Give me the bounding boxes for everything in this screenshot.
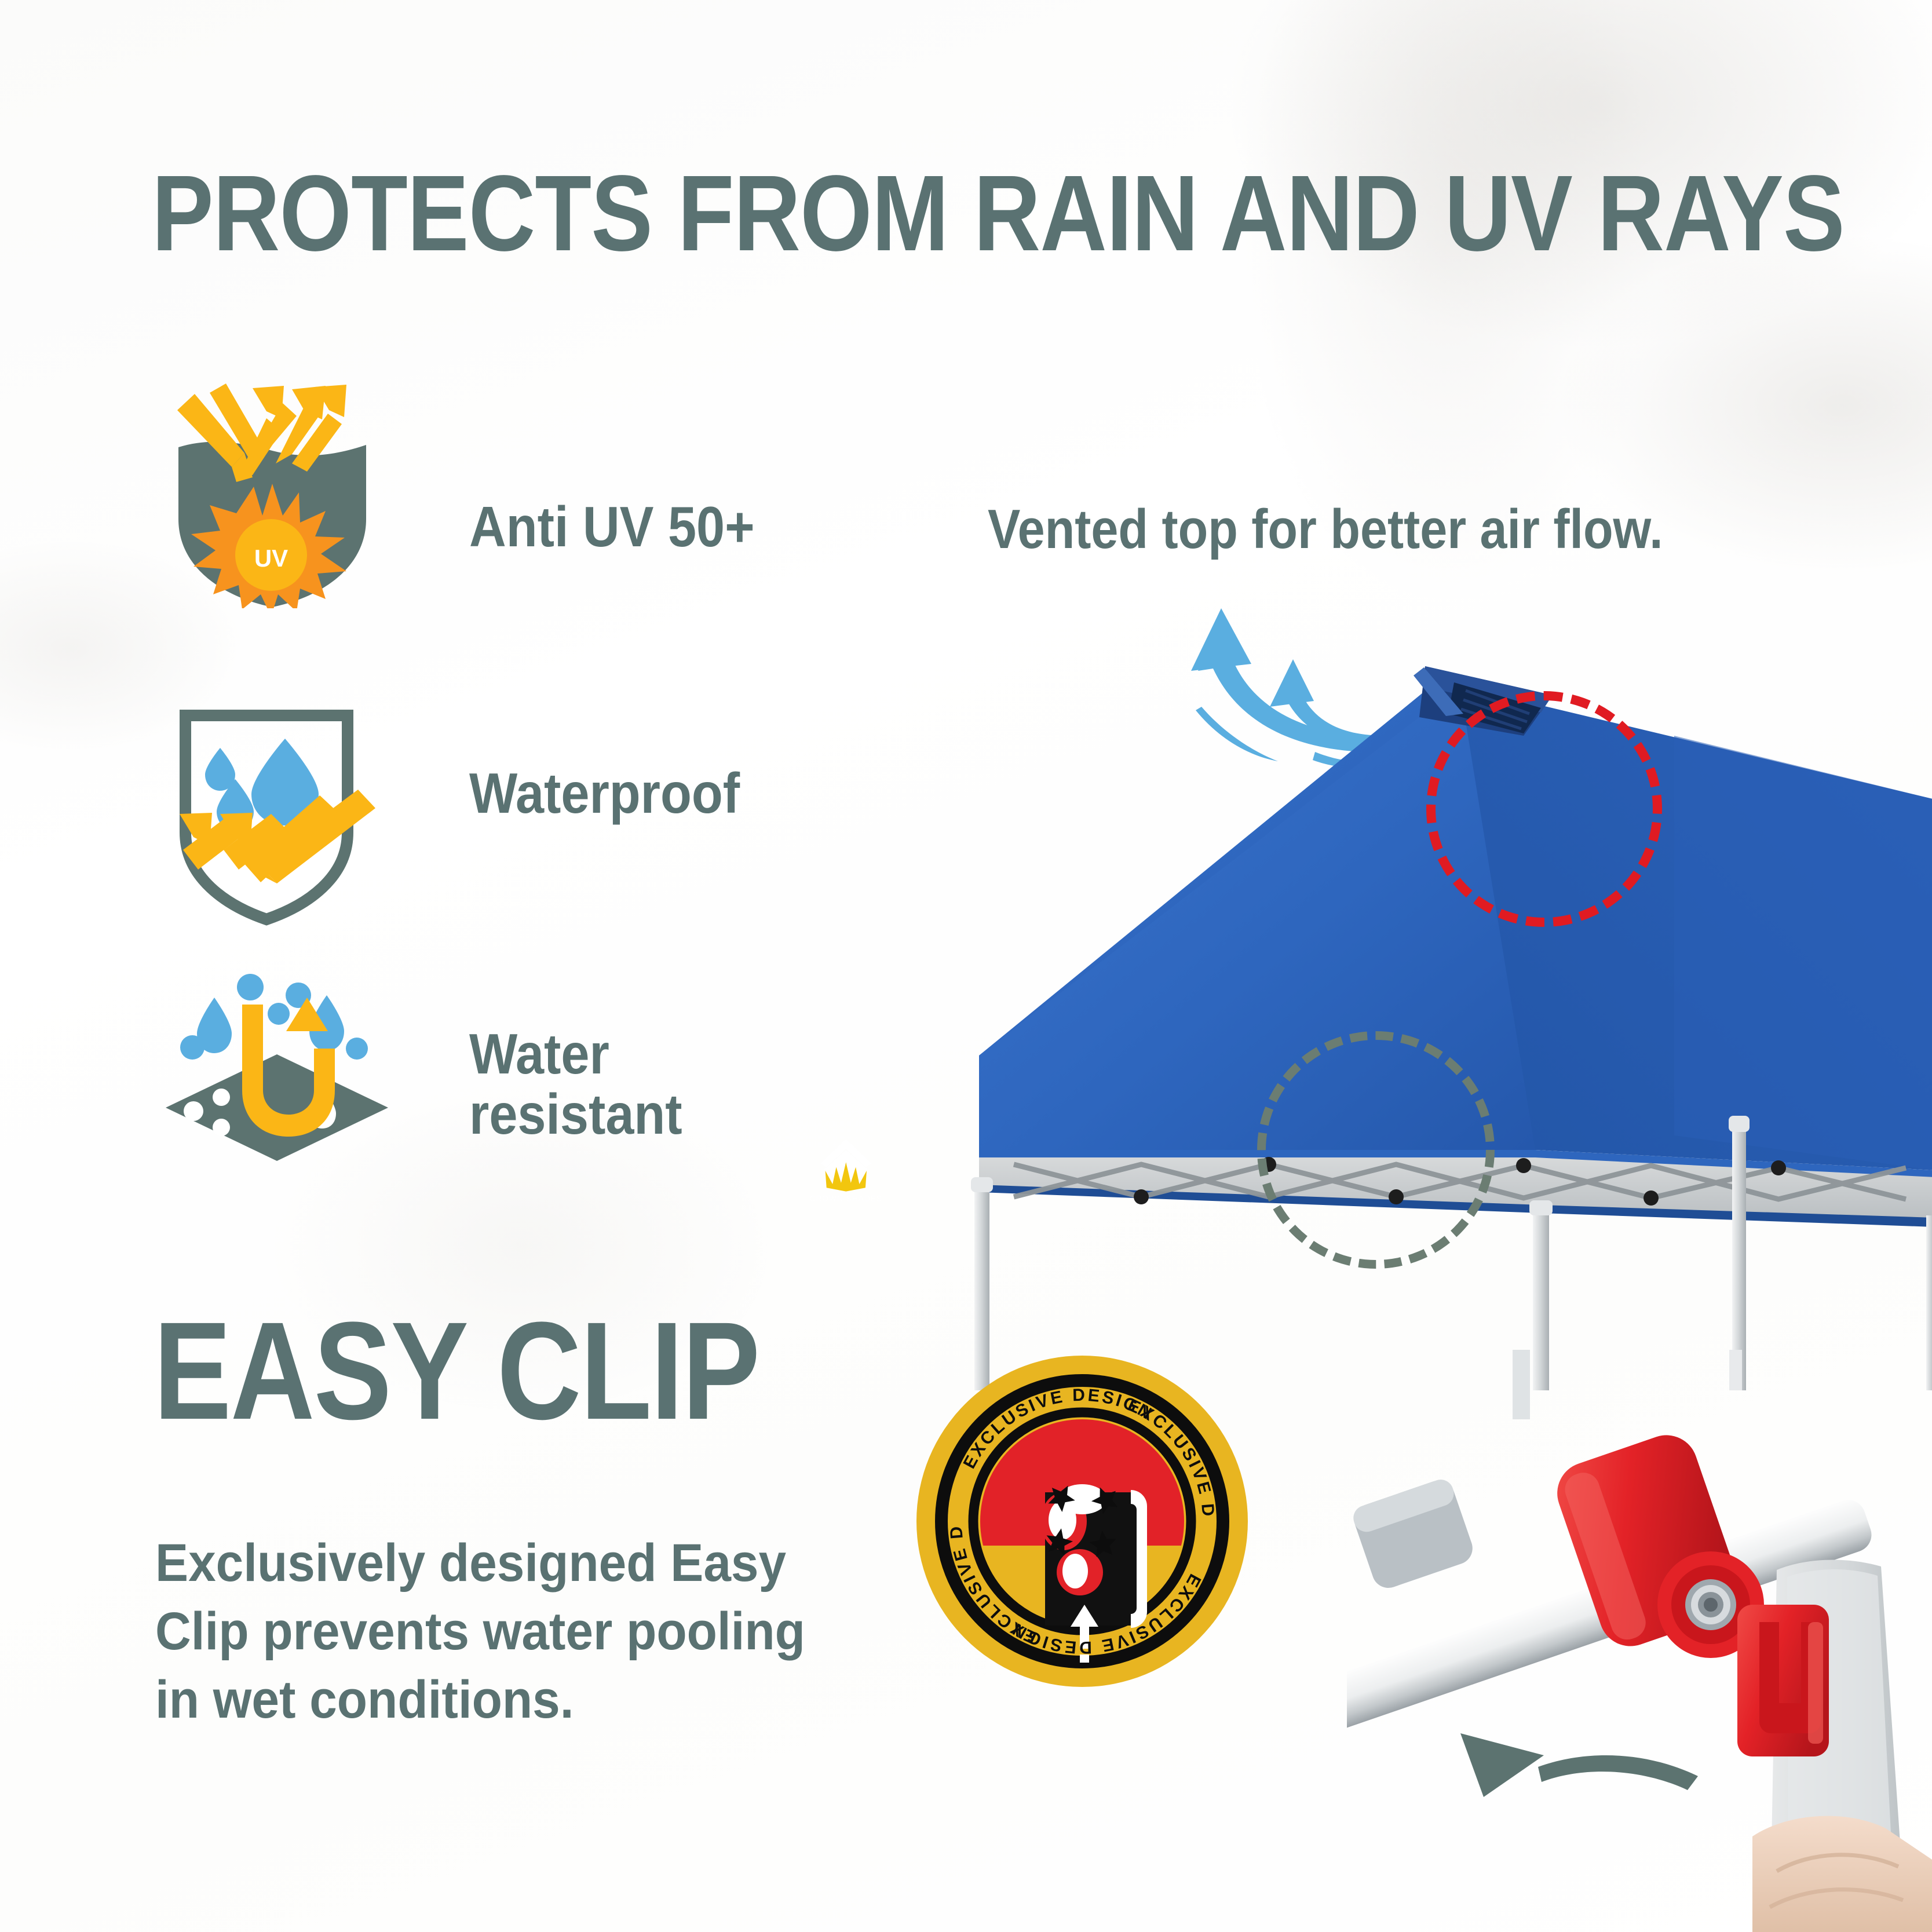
exclusive-design-badge: EXCLUSIVE DESIGN EXCLUSIVE DESIGN EXCLUS… bbox=[914, 1353, 1250, 1689]
infographic-canvas: PROTECTS FROM RAIN AND UV RAYS UV bbox=[0, 0, 1932, 1932]
easy-clip-hardware-image bbox=[1347, 1350, 1932, 1932]
uv-shield-icon: UV bbox=[168, 382, 377, 608]
svg-text:UV: UV bbox=[254, 545, 288, 572]
feature-label-water-resistant: Water resistant bbox=[469, 1024, 682, 1145]
feature-label-anti-uv: Anti UV 50+ bbox=[469, 497, 755, 557]
easy-clip-title: EASY CLIP bbox=[154, 1301, 759, 1440]
canopy-product-image: CROWN SHADES bbox=[770, 626, 1932, 1390]
svg-text:CROWN SHADES: CROWN SHADES bbox=[810, 1194, 883, 1203]
water-resistant-surface-icon bbox=[161, 962, 393, 1164]
waterproof-shield-icon bbox=[174, 698, 377, 927]
vented-top-label: Vented top for better air flow. bbox=[988, 502, 1663, 557]
easy-clip-description: Exclusively designed Easy Clip prevents … bbox=[155, 1529, 818, 1734]
feature-label-waterproof: Waterproof bbox=[469, 764, 740, 824]
page-title: PROTECTS FROM RAIN AND UV RAYS bbox=[152, 160, 1845, 268]
frame-highlight-circle-icon bbox=[1257, 1031, 1495, 1269]
vent-highlight-circle-icon bbox=[1426, 691, 1662, 927]
